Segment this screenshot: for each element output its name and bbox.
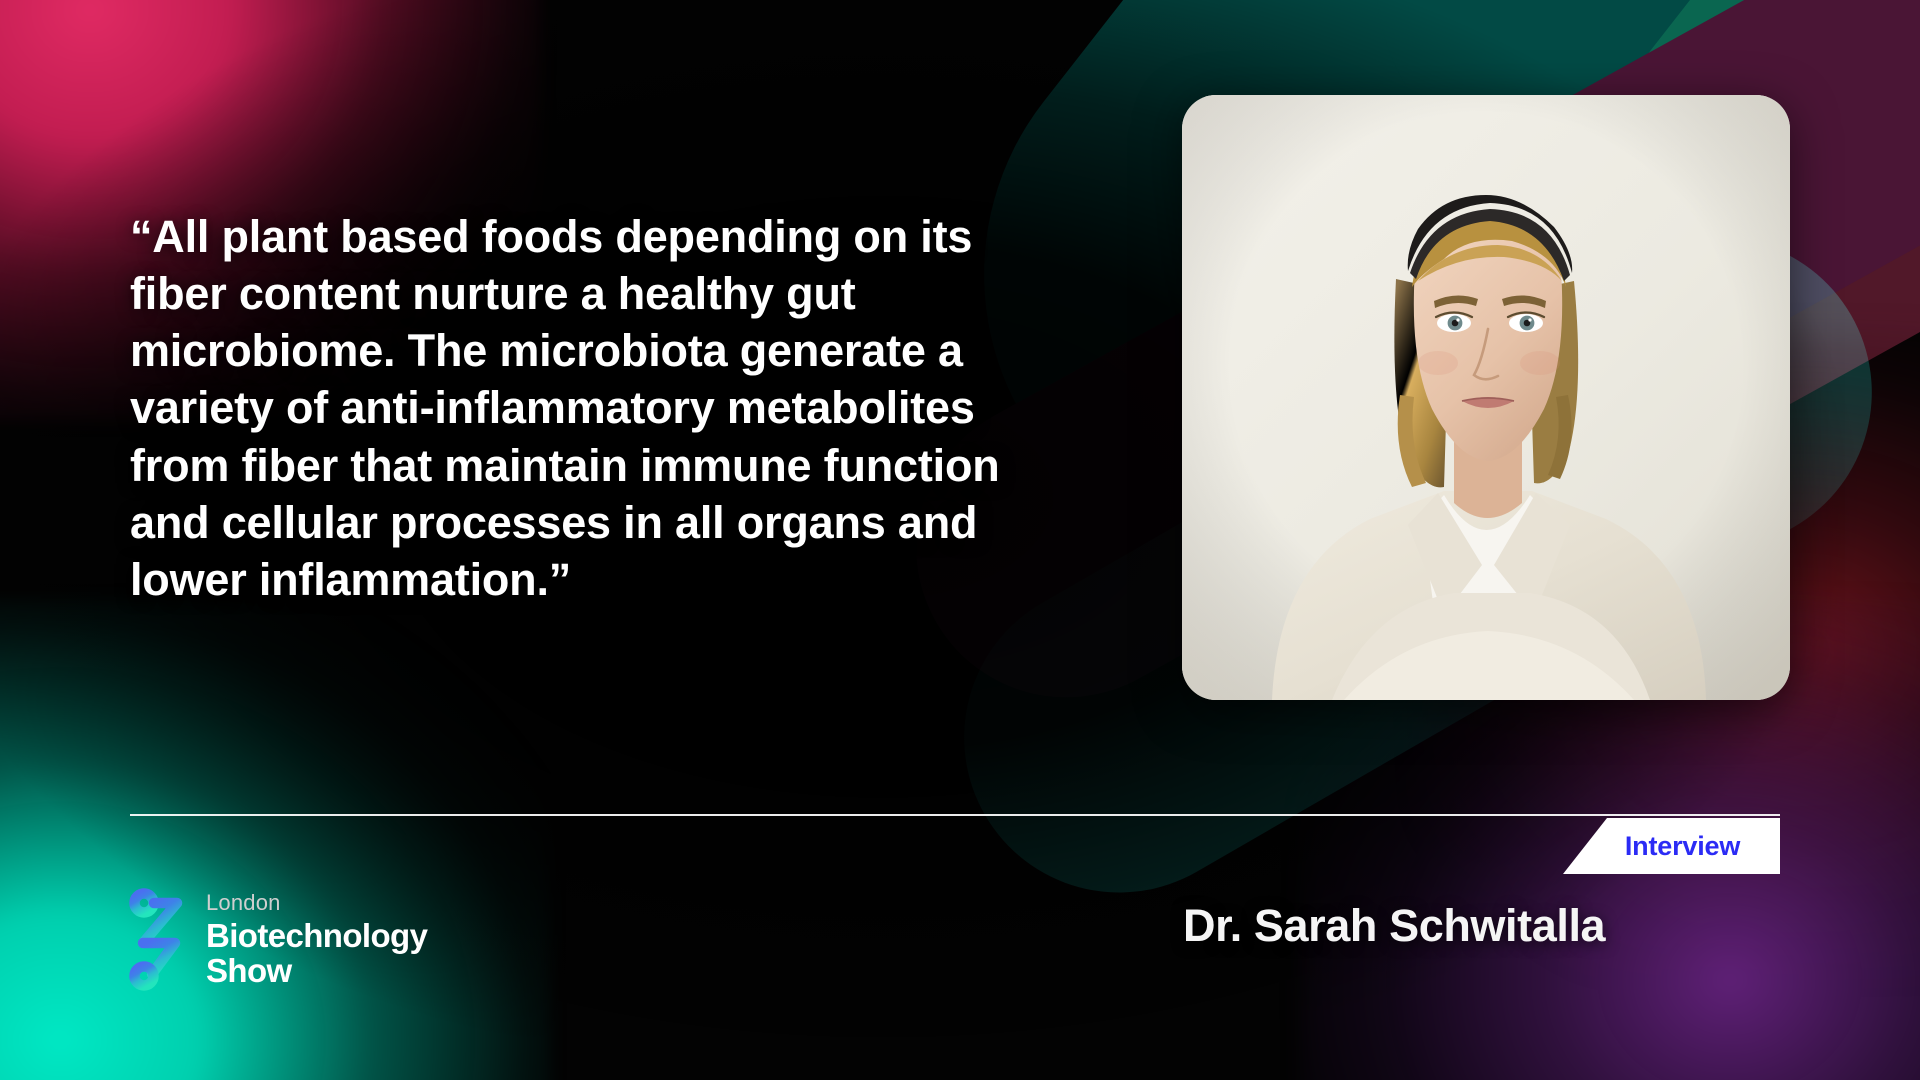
speaker-portrait [1182,95,1790,700]
quote-text: “All plant based foods depending on its … [130,208,1140,608]
logo-line-show: Show [206,954,427,987]
logo-line-biotechnology: Biotechnology [206,919,427,952]
logo[interactable]: London Biotechnology Show [128,886,427,992]
logo-text: London Biotechnology Show [206,892,427,987]
speaker-name: Dr. Sarah Schwitalla [1183,900,1605,952]
quote-card: “All plant based foods depending on its … [0,0,1920,1080]
london-biotechnology-show-logo-mark-icon [128,886,190,992]
interview-badge[interactable]: Interview [1563,818,1780,874]
logo-line-london: London [206,892,427,914]
divider-line [130,814,1780,816]
interview-badge-label: Interview [1603,831,1740,862]
